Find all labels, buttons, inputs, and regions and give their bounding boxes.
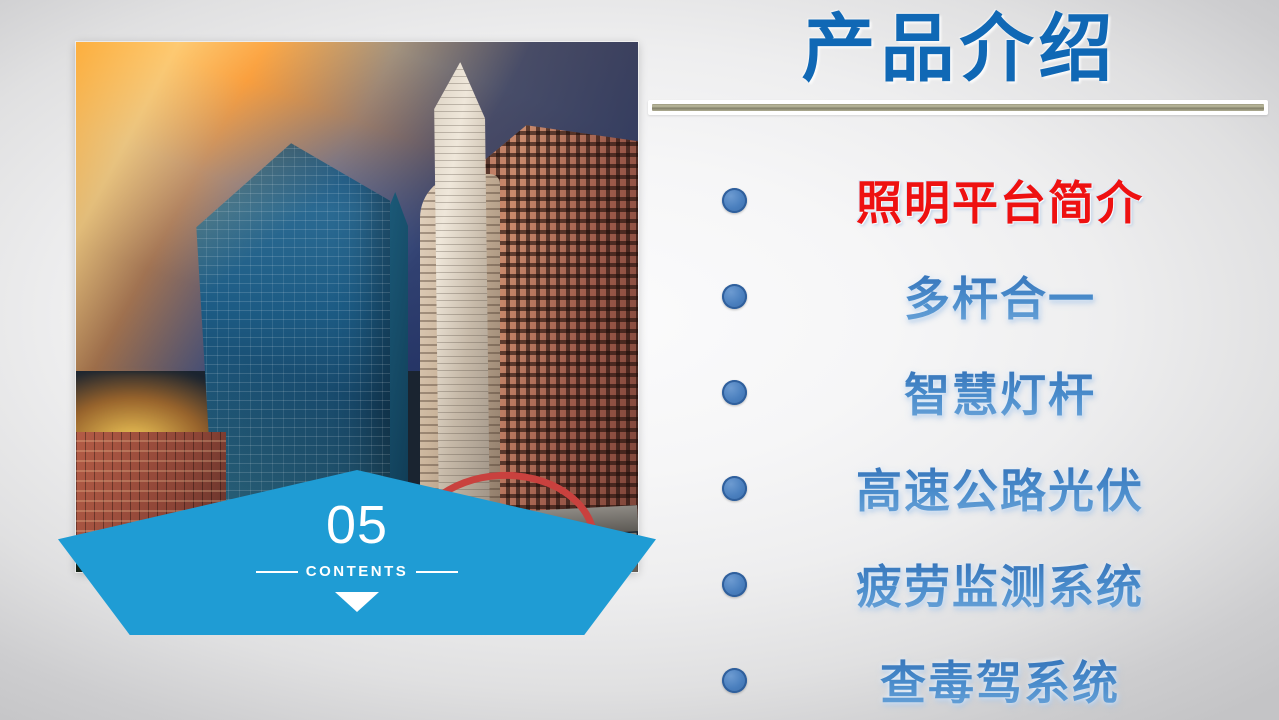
- page-title: 产品介绍: [640, 8, 1279, 91]
- list-item-label: 疲劳监测系统: [747, 551, 1279, 617]
- bullet-dot-icon: [722, 380, 747, 405]
- tree-line: [76, 534, 326, 572]
- bullet-dot-icon: [722, 284, 747, 309]
- down-triangle-icon: [335, 592, 379, 612]
- list-item[interactable]: 高速公路光伏: [648, 442, 1279, 534]
- list-item-label: 照明平台简介: [747, 167, 1279, 233]
- list-item-label: 高速公路光伏: [747, 455, 1279, 521]
- brick-grid-building: [476, 100, 638, 520]
- presentation-slide: 05 CONTENTS 产品介绍 照明平台简介多杆合一智慧灯杆高速公路光伏疲劳监…: [0, 0, 1279, 720]
- list-item[interactable]: 多杆合一: [648, 250, 1279, 342]
- list-item[interactable]: 疲劳监测系统: [648, 538, 1279, 630]
- title-divider-inner: [652, 104, 1264, 111]
- bullet-dot-icon: [722, 476, 747, 501]
- list-item[interactable]: 查毒驾系统: [648, 634, 1279, 720]
- list-item[interactable]: 照明平台简介: [648, 154, 1279, 246]
- agenda-list: 照明平台简介多杆合一智慧灯杆高速公路光伏疲劳监测系统查毒驾系统: [648, 140, 1279, 700]
- bullet-dot-icon: [722, 188, 747, 213]
- list-item[interactable]: 智慧灯杆: [648, 346, 1279, 438]
- list-item-label: 智慧灯杆: [747, 359, 1279, 425]
- cityscape-photo: [76, 42, 638, 572]
- list-item-label: 查毒驾系统: [747, 647, 1279, 713]
- list-item-label: 多杆合一: [747, 263, 1279, 329]
- title-divider: [648, 100, 1268, 115]
- bullet-dot-icon: [722, 668, 747, 693]
- bullet-dot-icon: [722, 572, 747, 597]
